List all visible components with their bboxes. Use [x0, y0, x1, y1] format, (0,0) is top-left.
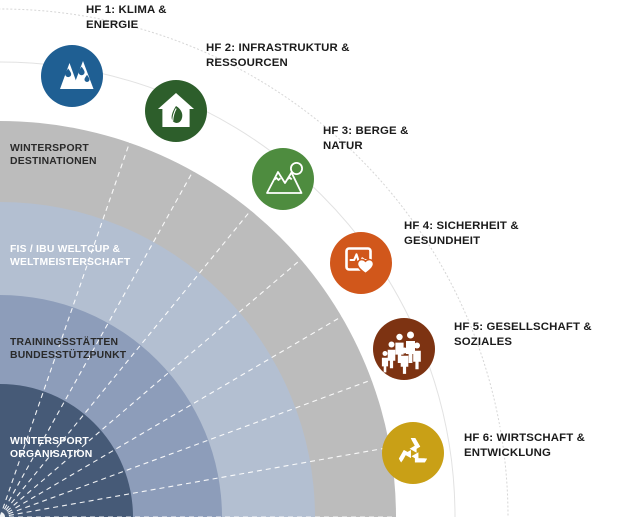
hf-label-hf5: HF 5: GESELLSCHAFT & SOZIALES	[454, 320, 592, 350]
hf-label-hf6: HF 6: WIRTSCHAFT & ENTWICKLUNG	[464, 431, 585, 461]
hf-label-hf3: HF 3: BERGE & NATUR	[323, 124, 409, 154]
badge-hf3[interactable]	[252, 148, 314, 210]
badge-hf6[interactable]	[382, 422, 444, 484]
badge-hf6-circle	[382, 422, 444, 484]
hf-label-hf4: HF 4: SICHERHEIT & GESUNDHEIT	[404, 219, 519, 249]
badge-hf2[interactable]	[145, 80, 207, 142]
radial-diagram: WINTERSPORT ORGANISATION TRAININGSSTÄTTE…	[0, 0, 620, 517]
badge-hf5[interactable]	[373, 318, 435, 380]
badge-hf4[interactable]	[330, 232, 392, 294]
hf-label-hf2: HF 2: INFRASTRUKTUR & RESSOURCEN	[206, 41, 350, 71]
badge-hf1[interactable]	[41, 45, 103, 107]
hf-label-hf1: HF 1: KLIMA & ENERGIE	[86, 3, 167, 33]
